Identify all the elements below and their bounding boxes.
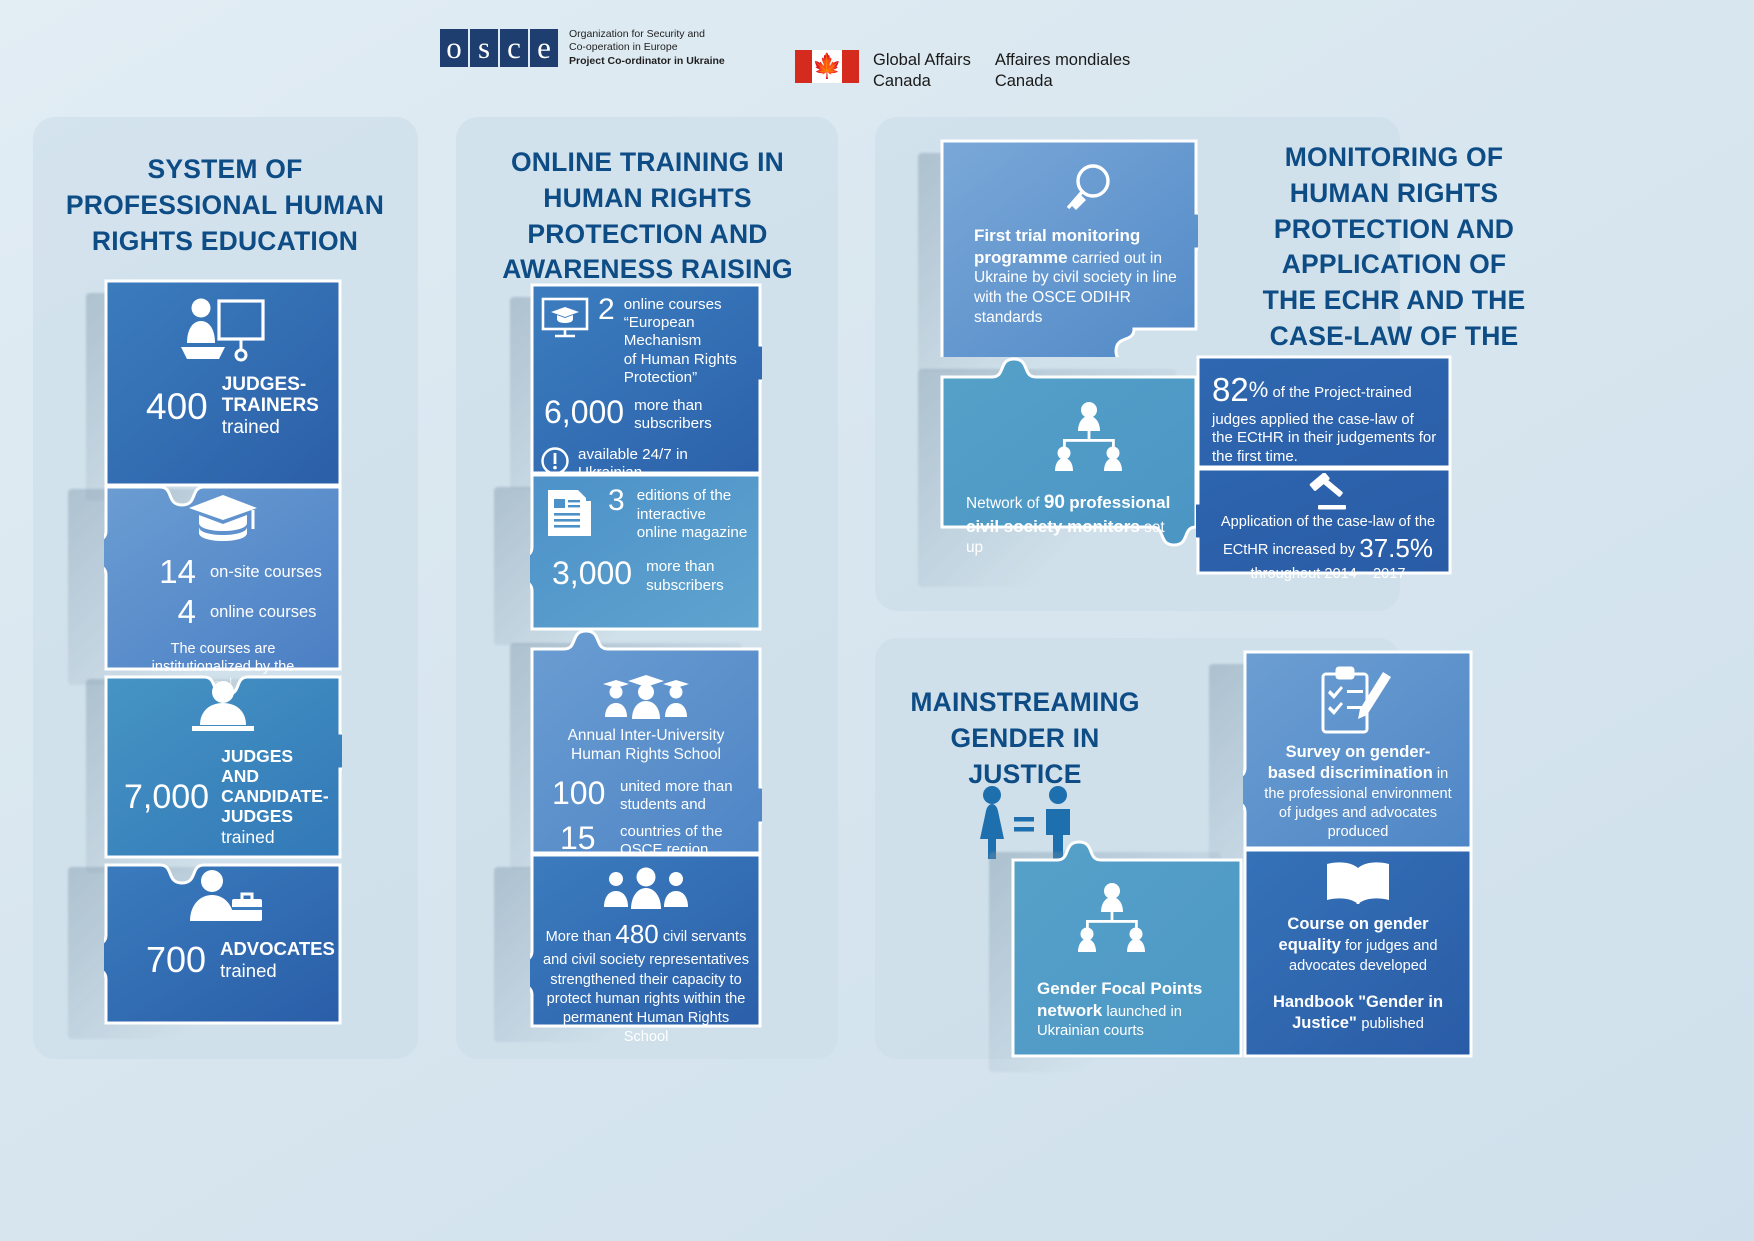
training-p2-item1-number: 3: [608, 487, 625, 516]
checklist-pen-icon: [1263, 666, 1453, 740]
osce-line-2: Co-operation in Europe: [569, 41, 725, 54]
education-p3-label: JUDGES AND CANDIDATE-JUDGES: [221, 747, 330, 827]
education-p2-stat2-text: online courses: [210, 603, 316, 622]
education-piece-3: 7,000 JUDGES AND CANDIDATE-JUDGES traine…: [104, 665, 342, 859]
training-p3-item1-number: 100: [552, 778, 614, 808]
gender-p3-rest2: published: [1361, 1016, 1423, 1032]
education-p2-stat1-number: 14: [140, 553, 196, 591]
canada-flag-icon: 🍁: [795, 50, 859, 83]
gac-fr-line1: Affaires mondiales: [995, 50, 1130, 71]
gac-en-line1: Global Affairs: [873, 50, 971, 71]
three-people-icon: [542, 867, 750, 913]
monitoring-p4-post: throughout 2014 – 2017: [1216, 565, 1440, 584]
gac-fr-line2: Canada: [995, 71, 1130, 92]
global-affairs-canada-logo: 🍁 Global Affairs Canada Affaires mondial…: [795, 50, 1154, 93]
gender-p1-bold: Survey on gender-based discrimination: [1268, 743, 1433, 782]
education-p4-label: ADVOCATES: [220, 939, 335, 960]
osce-wordmark: Organization for Security and Co-operati…: [569, 28, 725, 68]
network-hierarchy-icon: [1037, 882, 1225, 960]
gender-piece-3: Course on gender equality for judges and…: [1243, 848, 1473, 1058]
training-p4-pre: More than: [546, 929, 612, 945]
graduation-cap-icon: [116, 491, 330, 549]
education-p2-stat1-text: on-site courses: [210, 563, 322, 582]
monitoring-title: MONITORING OF HUMAN RIGHTS PROTECTION AN…: [1258, 140, 1530, 390]
gavel-icon: [1216, 473, 1440, 513]
gac-english: Global Affairs Canada: [873, 50, 971, 93]
infographic-canvas: o s c e Organization for Security and Co…: [0, 0, 1754, 1241]
magnifier-icon: [974, 161, 1180, 219]
training-p1-item1-text: online courses “European Mechanism of Hu…: [624, 296, 752, 387]
education-p4-sub: trained: [220, 960, 335, 982]
training-p3-item2-number: 15: [560, 823, 614, 853]
monitoring-p3-percent: %: [1249, 377, 1269, 402]
monitoring-p3-number: 82: [1212, 371, 1249, 408]
monitoring-piece-3: 82% of the Project-trained judges applie…: [1196, 355, 1452, 469]
training-piece-2: 3 editions of the interactive online mag…: [530, 473, 762, 631]
osce-line-1: Organization for Security and: [569, 28, 725, 41]
training-p1-item1-number: 2: [598, 296, 615, 325]
magazine-icon: [544, 487, 600, 544]
osce-letter-c: c: [500, 29, 528, 67]
gender-title: MAINSTREAMING GENDER IN JUSTICE: [900, 685, 1150, 792]
education-p3-number: 7,000: [124, 778, 209, 817]
monitoring-piece-1: First trial monitoring programme carried…: [940, 139, 1198, 357]
monitoring-piece-2: Network of 90 professional civil society…: [940, 355, 1198, 573]
training-p3-item1-text: united more than students and: [620, 778, 733, 815]
education-piece-1: 400 JUDGES- TRAINERS trained: [104, 279, 342, 487]
gender-piece-2: Gender Focal Points network launched in …: [1011, 838, 1243, 1058]
osce-letter-mark: o s c e: [440, 29, 560, 67]
training-p2-item2-number: 3,000: [552, 558, 632, 588]
monitoring-p2-number: 90: [1044, 492, 1065, 513]
training-p2-item2-text: more than subscribers: [646, 558, 724, 595]
education-p1-sub: trained: [222, 417, 319, 439]
education-piece-2: 14 on-site courses 4 online courses The …: [104, 475, 342, 671]
education-p1-number: 400: [146, 386, 208, 428]
education-title: SYSTEM OF PROFESSIONAL HUMAN RIGHTS EDUC…: [60, 152, 390, 259]
osce-letter-s: s: [470, 29, 498, 67]
education-p1-label: JUDGES- TRAINERS: [222, 375, 319, 417]
monitoring-p2-pre: Network of: [966, 495, 1040, 512]
three-graduates-icon: [542, 673, 750, 723]
training-p2-item1-text: editions of the interactive online magaz…: [637, 487, 748, 543]
header-logos: o s c e Organization for Security and Co…: [0, 22, 1754, 84]
gac-french: Affaires mondiales Canada: [995, 50, 1130, 93]
osce-logo: o s c e Organization for Security and Co…: [440, 28, 725, 68]
monitor-graduation-icon: [540, 296, 592, 347]
network-hierarchy-icon: [966, 401, 1180, 477]
training-p4-number: 480: [615, 919, 658, 949]
osce-letter-e: e: [530, 29, 558, 67]
training-p1-item2-text: more than subscribers: [634, 397, 712, 433]
education-p4-number: 700: [146, 939, 206, 981]
monitoring-piece-4: Application of the case-law of the ECtHR…: [1196, 467, 1452, 575]
gender-piece-1: Survey on gender-based discrimination in…: [1243, 650, 1473, 850]
gac-en-line2: Canada: [873, 71, 971, 92]
trainer-presentation-icon: [118, 295, 328, 367]
education-p3-sub: trained: [221, 827, 330, 848]
osce-letter-o: o: [440, 29, 468, 67]
education-p2-stat2-number: 4: [140, 593, 196, 631]
training-piece-4: More than 480 civil servants and civil s…: [530, 853, 762, 1028]
advocate-briefcase-icon: [116, 869, 330, 929]
osce-line-3: Project Co-ordinator in Ukraine: [569, 55, 725, 68]
online-training-title: ONLINE TRAINING IN HUMAN RIGHTS PROTECTI…: [470, 145, 825, 288]
judge-desk-icon: [116, 679, 330, 741]
monitoring-p4-number: 37.5%: [1359, 533, 1433, 563]
training-p1-item2-number: 6,000: [544, 397, 624, 427]
training-p3-heading: Annual Inter-University Human Rights Sch…: [542, 727, 750, 764]
training-piece-3: Annual Inter-University Human Rights Sch…: [530, 629, 762, 855]
education-piece-4: 700 ADVOCATES trained: [104, 853, 342, 1025]
open-book-icon: [1261, 858, 1455, 914]
training-piece-1: 2 online courses “European Mechanism of …: [530, 283, 762, 475]
